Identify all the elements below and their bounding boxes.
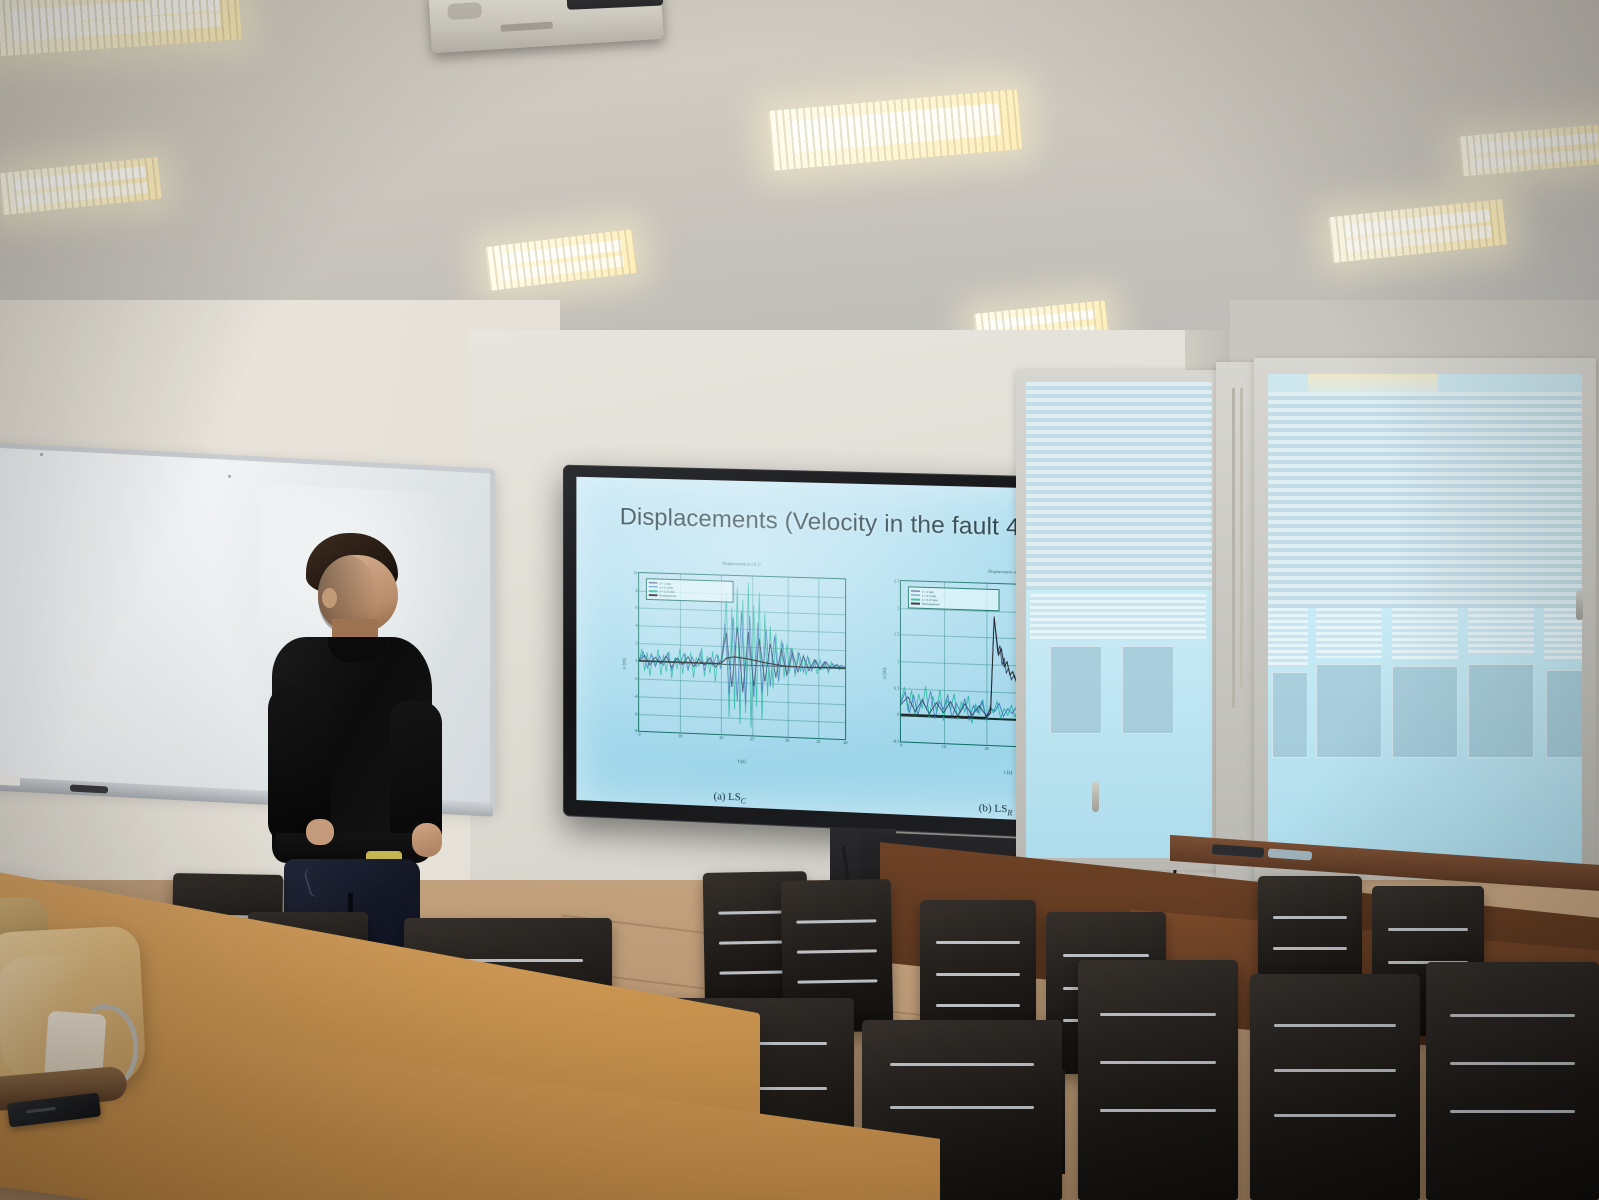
presenter-left-hand <box>306 819 334 845</box>
meeting-room-photo: Displacements (Velocity in the fault 400… <box>0 0 1599 1200</box>
ceiling-light-panel <box>1459 124 1599 177</box>
ceiling-light-panel <box>1328 199 1507 263</box>
chair[interactable] <box>1250 974 1420 1200</box>
ceiling-light-panel <box>485 229 637 291</box>
ceiling-light-panel <box>768 89 1022 171</box>
exterior-building-view <box>1026 590 1212 858</box>
window-blind <box>1026 382 1212 590</box>
chart-a-title: Displacement at LS_C <box>639 559 847 570</box>
presenter-right-hand <box>412 823 442 857</box>
ceiling-light-panel <box>0 157 162 215</box>
chair[interactable] <box>1426 962 1599 1200</box>
chart-b-legend: d = 1 mm d = 0.5 mm d = 0.25 mm Homogene… <box>908 586 999 611</box>
ceiling-projector <box>428 0 663 53</box>
window-wall <box>1016 352 1599 892</box>
exterior-building-view <box>1268 608 1582 866</box>
chart-b-ylabel: u (m) <box>883 667 888 678</box>
chart-a-ylabel: u (m) <box>622 658 627 669</box>
window-handle-left[interactable] <box>1092 782 1099 812</box>
chair[interactable] <box>1078 960 1238 1200</box>
blind-cord <box>1240 388 1243 688</box>
window-glass-right <box>1268 374 1582 866</box>
chart-a-plot-area: d = 1 mm d = 0.5 mm d = 0.25 mm Homogene… <box>639 572 847 740</box>
window-handle-right[interactable] <box>1576 590 1583 620</box>
blind-cord <box>1232 388 1235 708</box>
ceiling-light-panel <box>0 0 242 57</box>
presenter-ear <box>322 588 337 608</box>
chart-a-legend: d = 1 mm d = 0.5 mm d = 0.25 mm Homogene… <box>646 578 734 602</box>
leather-handbag[interactable] <box>0 891 155 1100</box>
chart-a-xlabel: t (s) <box>639 755 847 769</box>
window-blind <box>1268 392 1582 608</box>
window-glass-left <box>1026 382 1212 858</box>
subfigure-ls-c: Displacement at LS_C u (m) <box>610 565 851 783</box>
